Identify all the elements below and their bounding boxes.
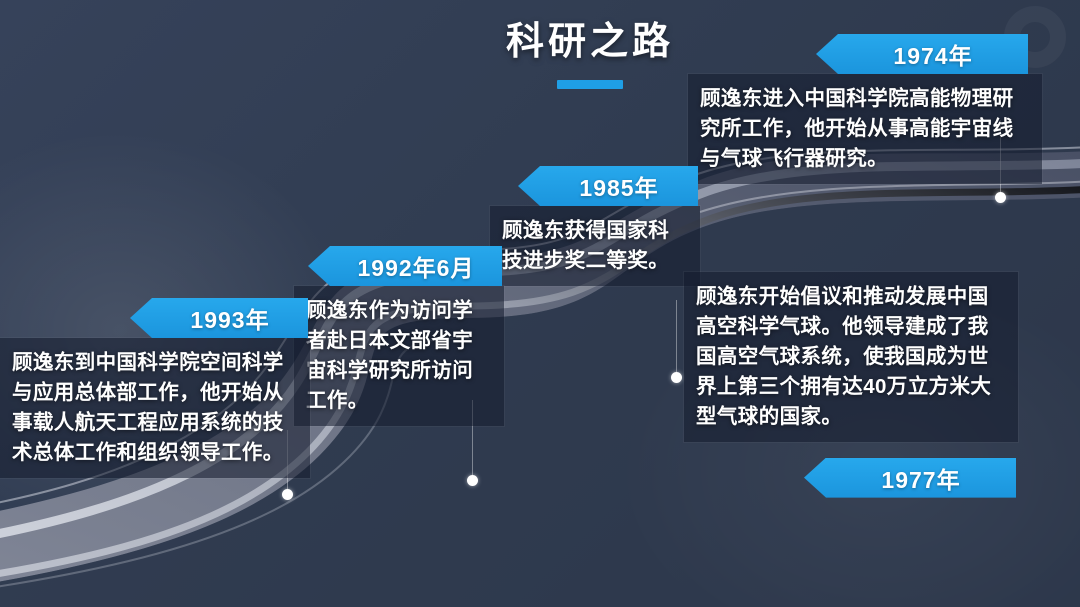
year-chip-1992[interactable]: 1992年6月 [308,246,502,286]
timeline-text-1974: 顾逸东进入中国科学院高能物理研究所工作，他开始从事高能宇宙线与气球飞行器研究。 [700,84,1030,174]
node-dot-1993 [282,489,293,500]
slide-canvas: 科研之路 1974年 顾逸东进入中国科学院高能物理研究所工作，他开始从事高能宇宙… [0,0,1080,607]
timeline-card-1974[interactable]: 1974年 顾逸东进入中国科学院高能物理研究所工作，他开始从事高能宇宙线与气球飞… [688,34,1018,184]
timeline-text-panel-1977: 顾逸东开始倡议和推动发展中国高空科学气球。他领导建成了我国高空气球系统，使我国成… [684,272,1018,442]
timeline-text-panel-1974: 顾逸东进入中国科学院高能物理研究所工作，他开始从事高能宇宙线与气球飞行器研究。 [688,74,1042,184]
timeline-card-1977[interactable]: 顾逸东开始倡议和推动发展中国高空科学气球。他领导建成了我国高空气球系统，使我国成… [684,272,994,498]
node-dot-1974 [995,192,1006,203]
timeline-text-1992: 顾逸东作为访问学者赴日本文部省宇宙科学研究所访问工作。 [306,296,492,416]
node-dot-1977 [671,372,682,383]
timeline-text-panel-1992: 顾逸东作为访问学者赴日本文部省宇宙科学研究所访问工作。 [294,286,504,426]
connector-line-1977 [676,300,677,376]
year-label-1977: 1977年 [881,461,960,495]
year-label-1992: 1992年6月 [358,249,475,283]
timeline-card-1992[interactable]: 1992年6月 顾逸东作为访问学者赴日本文部省宇宙科学研究所访问工作。 [294,246,480,426]
timeline-card-1985[interactable]: 1985年 顾逸东获得国家科技进步奖二等奖。 [490,166,676,286]
year-chip-1993[interactable]: 1993年 [130,298,308,338]
timeline-text-panel-1993: 顾逸东到中国科学院空间科学与应用总体部工作，他开始从事载人航天工程应用系统的技术… [0,338,310,478]
year-label-1985: 1985年 [579,169,658,203]
year-chip-1977[interactable]: 1977年 [804,458,1016,498]
timeline-text-1993: 顾逸东到中国科学院空间科学与应用总体部工作，他开始从事载人航天工程应用系统的技术… [12,348,298,468]
timeline-card-1993[interactable]: 1993年 顾逸东到中国科学院空间科学与应用总体部工作，他开始从事载人航天工程应… [0,298,286,478]
year-chip-1985[interactable]: 1985年 [518,166,698,206]
title-underline-bar [557,80,623,89]
timeline-text-panel-1985: 顾逸东获得国家科技进步奖二等奖。 [490,206,700,286]
node-dot-1992 [467,475,478,486]
timeline-text-1985: 顾逸东获得国家科技进步奖二等奖。 [502,216,688,276]
timeline-text-1977: 顾逸东开始倡议和推动发展中国高空科学气球。他领导建成了我国高空气球系统，使我国成… [696,282,1006,432]
year-chip-1974[interactable]: 1974年 [816,34,1028,74]
year-label-1993: 1993年 [190,301,269,335]
year-label-1974: 1974年 [893,37,972,71]
